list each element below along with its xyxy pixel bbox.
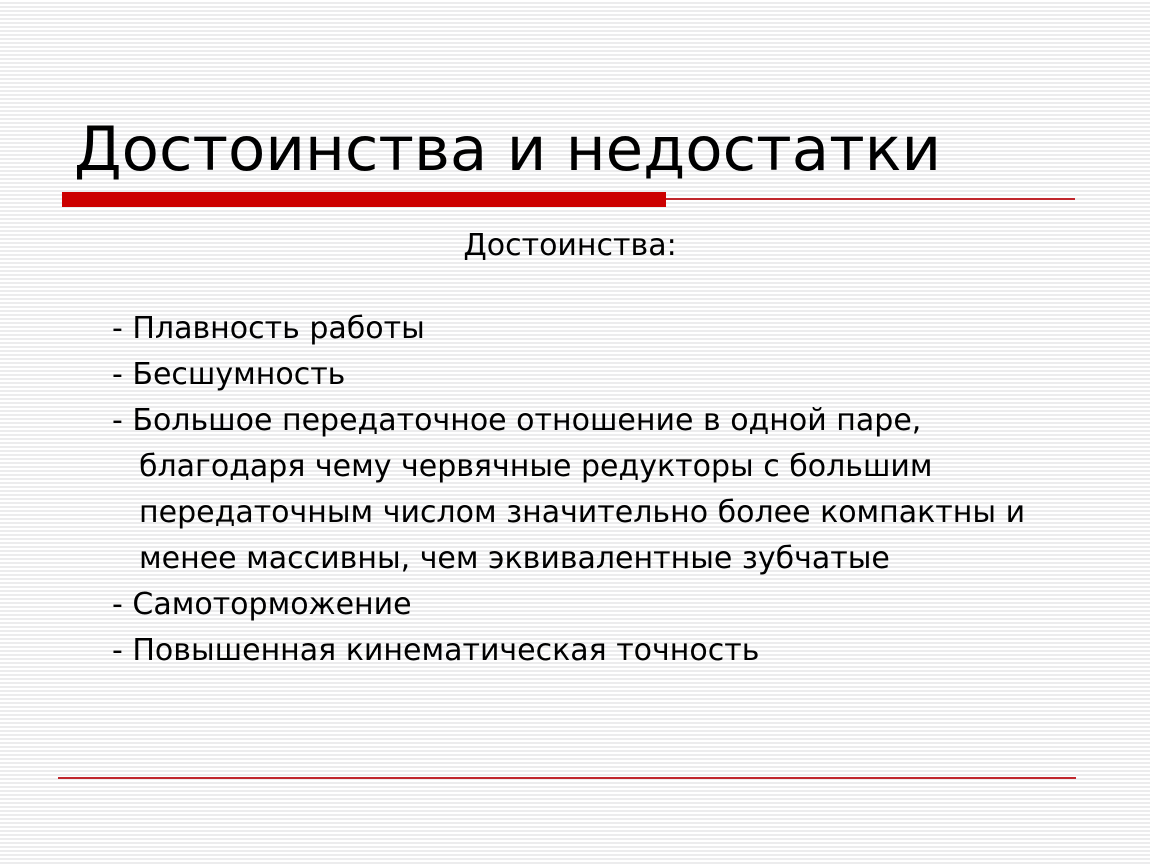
section-subtitle: Достоинства:: [80, 225, 1060, 267]
list-item: - Большое передаточное отношение в одной…: [93, 398, 1043, 582]
subtitle-block: Достоинства:: [80, 225, 1060, 267]
list-item: - Самоторможение: [93, 582, 1043, 628]
bullet-dash: -: [112, 403, 123, 438]
list-item: - Бесшумность: [93, 352, 1043, 398]
list-item-text: Большое передаточное отношение в одной п…: [132, 403, 1025, 576]
list-item-text: Самоторможение: [132, 587, 411, 622]
list-item: - Плавность работы: [93, 306, 1043, 352]
title-accent-bar: [62, 192, 666, 207]
advantages-list: - Плавность работы - Бесшумность - Больш…: [93, 306, 1043, 674]
list-item-text: Бесшумность: [132, 357, 345, 392]
bullet-dash: -: [112, 357, 123, 392]
bullet-dash: -: [112, 311, 123, 346]
list-item-text: Плавность работы: [132, 311, 424, 346]
list-item-text: Повышенная кинематическая точность: [132, 633, 759, 668]
title-block: Достоинства и недостатки: [74, 112, 1084, 188]
bullet-dash: -: [112, 587, 123, 622]
list-item: - Повышенная кинематическая точность: [93, 628, 1043, 674]
page-title: Достоинства и недостатки: [74, 112, 1084, 188]
slide-canvas: Достоинства и недостатки Достоинства: - …: [0, 0, 1150, 864]
footer-accent-rule: [58, 777, 1076, 779]
bullet-dash: -: [112, 633, 123, 668]
